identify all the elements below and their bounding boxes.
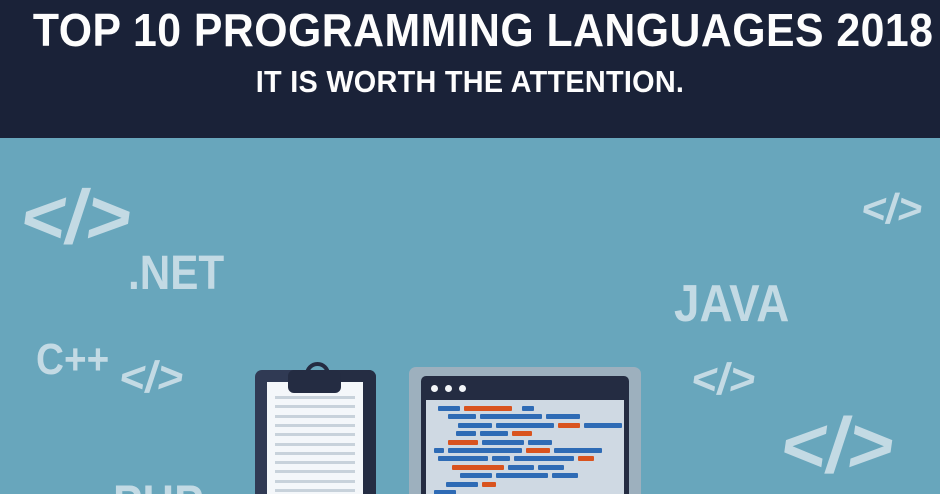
- clipboard-paper-line: [275, 461, 355, 464]
- code-token: [438, 456, 488, 461]
- code-bracket-small-left: </>: [117, 356, 187, 400]
- code-token: [480, 414, 542, 419]
- code-token: [482, 440, 524, 445]
- code-token: [514, 456, 574, 461]
- code-token: [464, 406, 512, 411]
- clipboard-paper-line: [275, 480, 355, 483]
- code-bracket-large-bottom-right: </>: [777, 406, 901, 484]
- code-token: [446, 482, 478, 487]
- code-token: [492, 456, 510, 461]
- code-bracket-large-top-left: </>: [17, 180, 138, 256]
- code-token: [512, 431, 532, 436]
- clipboard-paper: [267, 382, 363, 494]
- clipboard-paper-line: [275, 424, 355, 427]
- code-token: [496, 423, 554, 428]
- code-token: [554, 448, 602, 453]
- code-token: [538, 465, 564, 470]
- window-dot-icon-1: [431, 385, 438, 392]
- header-banner: TOP 10 PROGRAMMING LANGUAGES 2018 IT IS …: [0, 0, 940, 138]
- clipboard-paper-line: [275, 415, 355, 418]
- clipboard-paper-line: [275, 433, 355, 436]
- code-token: [522, 406, 534, 411]
- code-token: [496, 473, 548, 478]
- language-java: JAVA: [674, 278, 789, 330]
- code-token: [578, 456, 594, 461]
- code-bracket-top-right: </>: [859, 188, 926, 230]
- page-subtitle: IT IS WORTH THE ATTENTION.: [33, 64, 907, 100]
- code-token: [508, 465, 534, 470]
- code-token: [456, 431, 476, 436]
- code-token: [526, 448, 550, 453]
- clipboard-paper-line: [275, 452, 355, 455]
- code-token: [434, 448, 444, 453]
- clipboard-paper-line: [275, 405, 355, 408]
- laptop-screen: [421, 376, 629, 494]
- language-cpp: C++: [36, 338, 109, 382]
- language-dotnet: .NET: [128, 250, 224, 298]
- code-editor-surface: [426, 400, 624, 494]
- code-token: [434, 490, 456, 494]
- code-token: [558, 423, 580, 428]
- code-token: [460, 473, 492, 478]
- code-token: [480, 431, 508, 436]
- page-title: TOP 10 PROGRAMMING LANGUAGES 2018: [33, 4, 907, 56]
- clipboard-clip-bar: [288, 370, 341, 393]
- window-dot-icon-3: [459, 385, 466, 392]
- clipboard-paper-line: [275, 470, 355, 473]
- code-token: [452, 465, 504, 470]
- code-token: [482, 482, 496, 487]
- language-php: PHP: [113, 478, 203, 494]
- code-bracket-mid-right: </>: [689, 358, 759, 402]
- code-token: [448, 440, 478, 445]
- code-token: [546, 414, 580, 419]
- infographic-root: TOP 10 PROGRAMMING LANGUAGES 2018 IT IS …: [0, 0, 940, 494]
- clipboard-paper-line: [275, 489, 355, 492]
- clipboard-paper-line: [275, 396, 355, 399]
- code-token: [438, 406, 460, 411]
- code-token: [584, 423, 622, 428]
- code-token: [448, 414, 476, 419]
- window-dot-icon-2: [445, 385, 452, 392]
- code-token: [528, 440, 552, 445]
- code-token: [458, 423, 492, 428]
- code-token: [448, 448, 522, 453]
- clipboard-paper-line: [275, 443, 355, 446]
- code-token: [552, 473, 578, 478]
- illustration-canvas: </></></></></> .NETC++JAVAPHP: [0, 138, 940, 494]
